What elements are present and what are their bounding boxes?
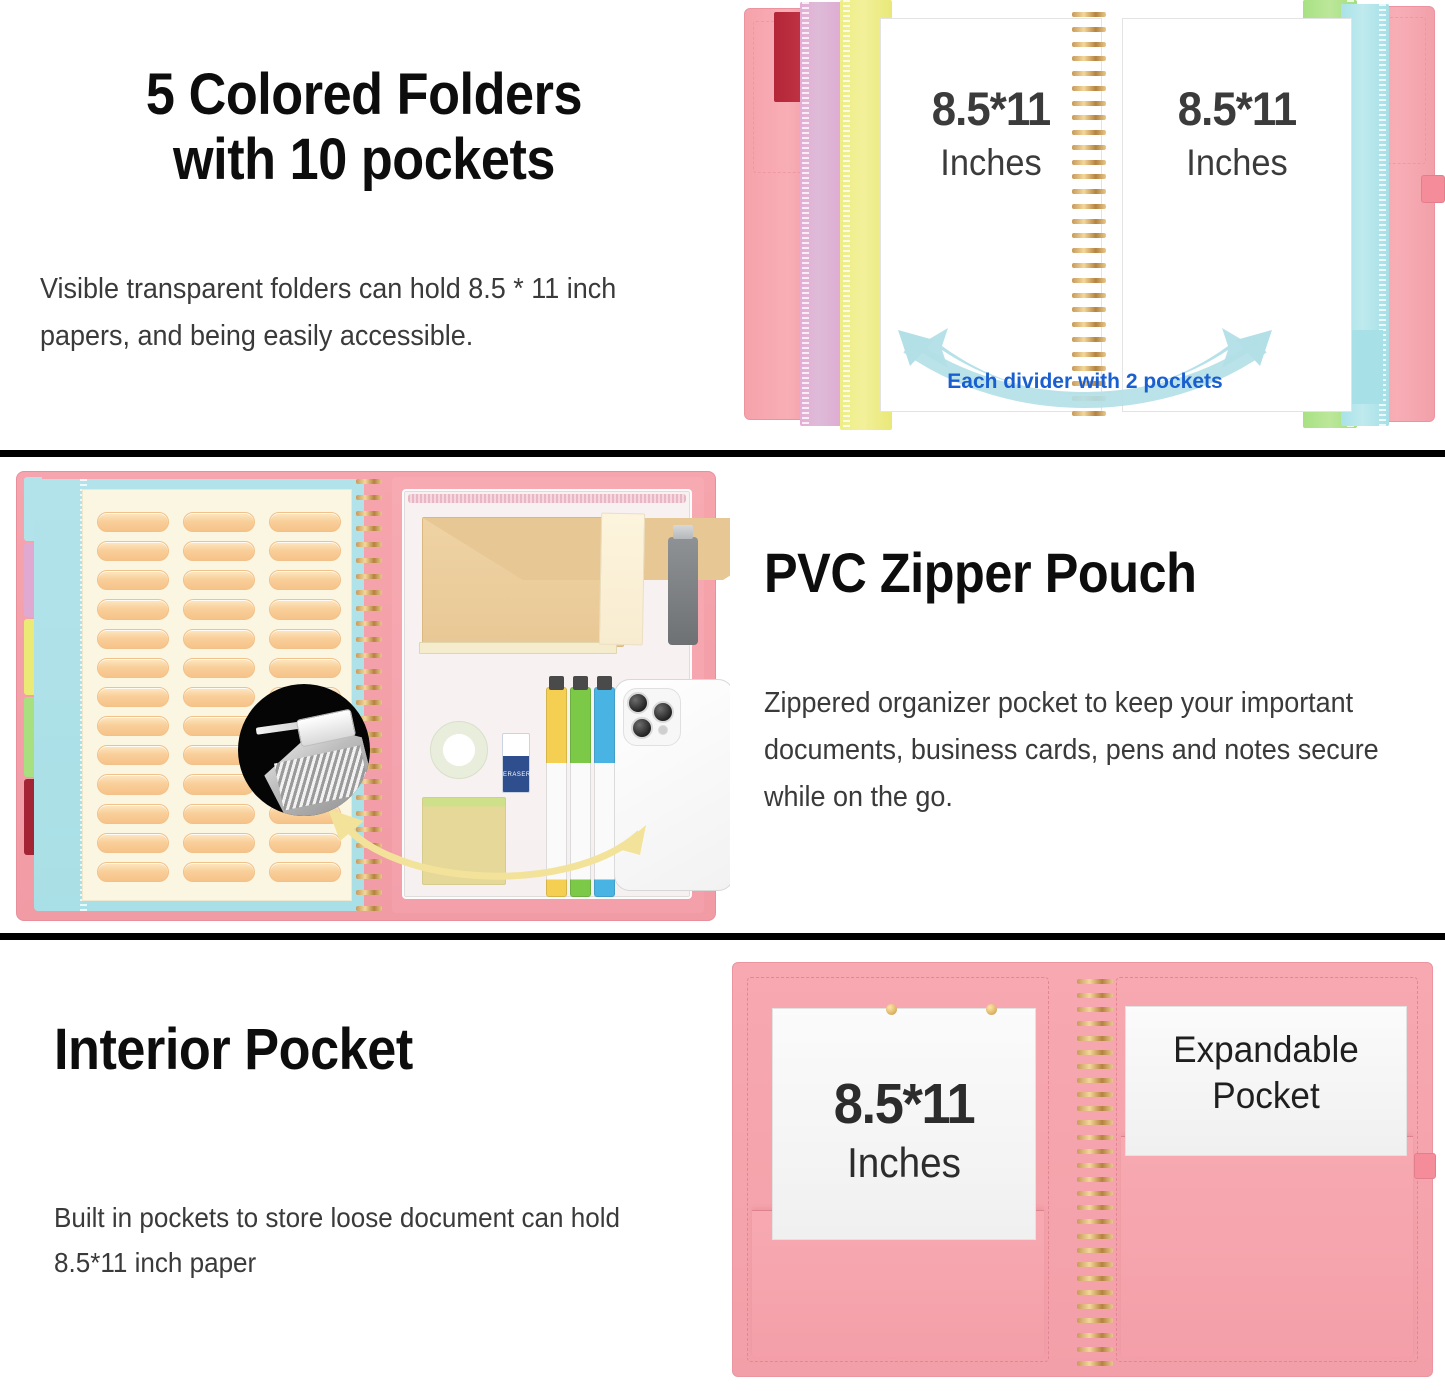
- panel-colored-folders: 5 Colored Folders with 10 pockets Visibl…: [0, 0, 1445, 452]
- zipper-pointer-arrow: [318, 807, 648, 907]
- usb-drive: [668, 537, 698, 645]
- panel-3-headline: Interior Pocket: [54, 1018, 625, 1083]
- paper-sample-left: 8.5*11 Inches: [772, 1008, 1036, 1240]
- label-sticker: [97, 687, 169, 707]
- panel-2-body: Zippered organizer pocket to keep your i…: [764, 680, 1379, 821]
- label-sticker: [183, 804, 255, 824]
- pen-loop: [1421, 175, 1445, 203]
- label-sticker: [183, 687, 255, 707]
- paper-right-label: Expandable Pocket: [1126, 1029, 1406, 1117]
- label-sticker: [269, 570, 341, 590]
- panel-3-image: 8.5*11 Inches Expandable Pocket: [722, 940, 1445, 1391]
- panel-1-image: 8.5*11 Inches 8.5*11 Inches: [722, 0, 1445, 452]
- label-sticker: [183, 658, 255, 678]
- label-sticker: [269, 599, 341, 619]
- paper-left-label: 8.5*11 Inches: [773, 1071, 1035, 1187]
- interior-pocket-right: [1121, 1136, 1413, 1357]
- label-sticker: [97, 833, 169, 853]
- label-sticker: [97, 745, 169, 765]
- label-sticker: [183, 512, 255, 532]
- panel-2-image: ERASER: [0, 457, 730, 935]
- rivet-left: [886, 1004, 897, 1015]
- divider-tab-blue: [1349, 330, 1383, 404]
- zipper-track: [408, 494, 686, 503]
- note-paper: [599, 513, 645, 646]
- page-left-size: 8.5*11: [889, 81, 1094, 136]
- paper-left-unit: Inches: [783, 1139, 1024, 1187]
- label-sticker: [183, 833, 255, 853]
- eraser-label: ERASER: [503, 772, 529, 778]
- page-right-size: 8.5*11: [1131, 81, 1343, 136]
- panel-3-text-column: Interior Pocket Built in pockets to stor…: [0, 940, 722, 1391]
- label-sticker: [97, 629, 169, 649]
- label-sticker: [183, 541, 255, 561]
- label-sticker: [183, 599, 255, 619]
- kraft-envelope: [422, 517, 624, 647]
- label-sticker: [97, 862, 169, 882]
- label-sticker: [97, 774, 169, 794]
- eraser: ERASER: [502, 733, 530, 793]
- interior-left-half: 8.5*11 Inches: [747, 977, 1049, 1362]
- divider-pockets-text: Each divider with 2 pockets: [870, 370, 1300, 394]
- label-sticker: [97, 804, 169, 824]
- page-right-label: 8.5*11 Inches: [1123, 81, 1351, 184]
- panel-pvc-zipper-pouch: ERASER: [0, 457, 1445, 935]
- panel-1-text-column: 5 Colored Folders with 10 pockets Visibl…: [0, 0, 722, 452]
- label-sticker: [269, 541, 341, 561]
- label-sticker: [269, 512, 341, 532]
- curved-arrow-icon: [318, 807, 648, 907]
- page-left-unit: Inches: [889, 142, 1094, 184]
- panel-interior-pocket: Interior Pocket Built in pockets to stor…: [0, 940, 1445, 1391]
- washi-tape-roll: [430, 721, 488, 779]
- label-sticker: [269, 658, 341, 678]
- label-sticker: [97, 658, 169, 678]
- label-sticker: [97, 599, 169, 619]
- label-sticker: [269, 629, 341, 649]
- section-divider-1: [0, 450, 1445, 457]
- expandable-pocket-line-1: Expandable: [1133, 1029, 1399, 1071]
- panel-1-headline-line-1: 5 Colored Folders: [72, 63, 655, 128]
- divider-pockets-callout: Each divider with 2 pockets: [870, 322, 1300, 440]
- label-sticker: [97, 570, 169, 590]
- panel-1-headline: 5 Colored Folders with 10 pockets: [72, 63, 655, 193]
- label-sticker: [183, 570, 255, 590]
- page-right-unit: Inches: [1131, 142, 1343, 184]
- panel-1-headline-line-2: with 10 pockets: [72, 128, 655, 193]
- spiral-binding: [1077, 979, 1113, 1366]
- paper-left-size: 8.5*11: [783, 1071, 1024, 1137]
- expandable-pocket-line-2: Pocket: [1133, 1075, 1399, 1117]
- label-sticker: [97, 512, 169, 532]
- interior-right-half: Expandable Pocket: [1116, 977, 1418, 1362]
- zipper-detail-inset: [238, 684, 370, 816]
- panel-2-text-column: PVC Zipper Pouch Zippered organizer pock…: [730, 457, 1445, 935]
- panel-3-body: Built in pockets to store loose document…: [54, 1195, 644, 1286]
- divider-pockets-label: Each divider with 2 pockets: [947, 370, 1222, 394]
- section-divider-2: [0, 933, 1445, 940]
- folio-interior-cover: 8.5*11 Inches Expandable Pocket: [732, 962, 1433, 1377]
- label-sticker: [183, 862, 255, 882]
- panel-2-headline: PVC Zipper Pouch: [764, 542, 1359, 605]
- label-sticker: [183, 629, 255, 649]
- headline-line-1-text: 5 Colored Folders: [146, 62, 582, 127]
- panel-1-body: Visible transparent folders can hold 8.5…: [40, 266, 643, 360]
- headline-line-2-text: with 10 pockets: [173, 127, 555, 192]
- page-left-label: 8.5*11 Inches: [881, 81, 1101, 184]
- camera-module-icon: [623, 688, 681, 746]
- infographic-page: 5 Colored Folders with 10 pockets Visibl…: [0, 0, 1445, 1391]
- pen-loop: [1414, 1153, 1436, 1179]
- label-sticker: [97, 541, 169, 561]
- paper-sample-right: Expandable Pocket: [1125, 1006, 1407, 1156]
- rivet-right: [986, 1004, 997, 1015]
- label-sticker: [97, 716, 169, 736]
